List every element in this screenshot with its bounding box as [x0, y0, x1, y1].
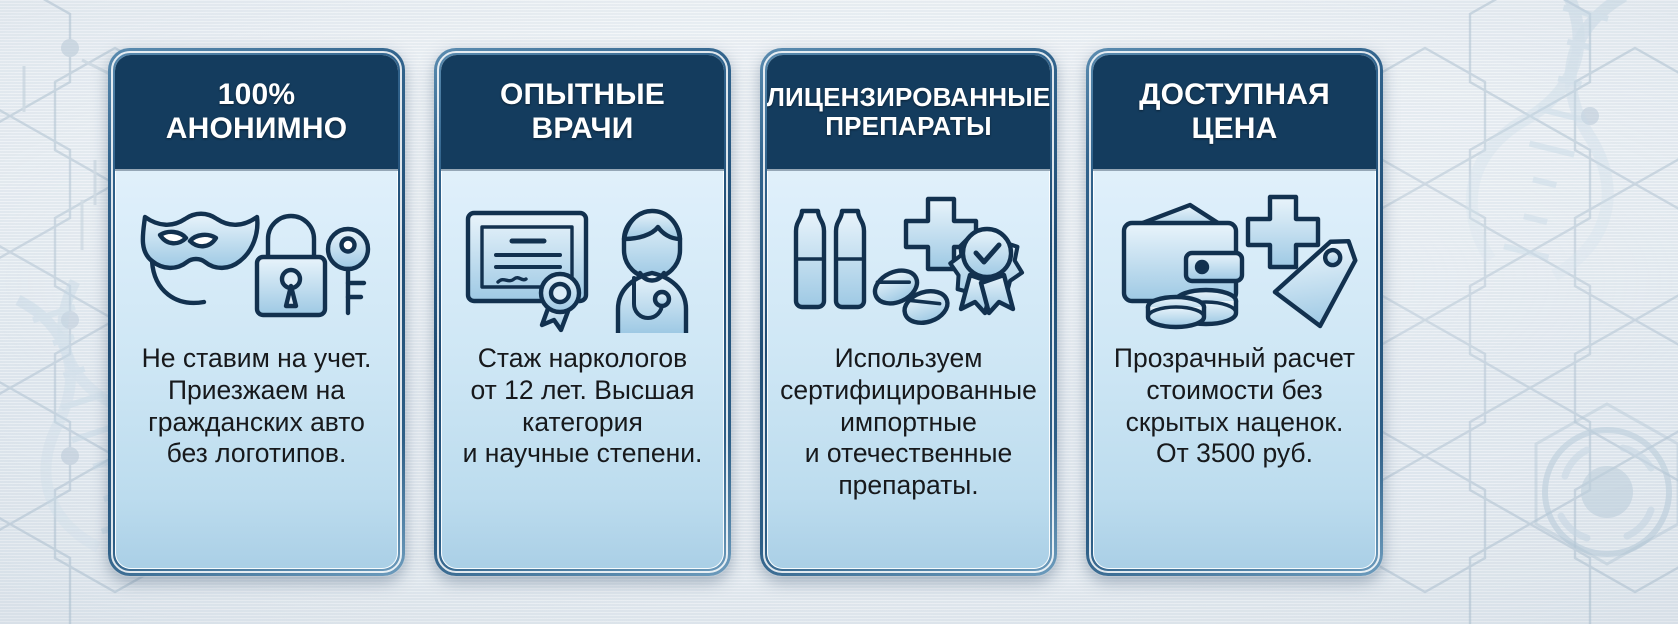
- padlock-icon: [257, 216, 325, 315]
- card-title: ДОСТУПНАЯ ЦЕНА: [1139, 78, 1330, 145]
- wallet-icon: [1124, 205, 1242, 301]
- feature-card-anonymity[interactable]: 100% АНОНИМНО: [108, 48, 405, 576]
- medical-cross-icon: [1248, 197, 1318, 267]
- card-body: Стаж наркологов от 12 лет. Высшая катего…: [441, 339, 724, 569]
- card-icon-group: [1093, 171, 1376, 339]
- card-title: ЛИЦЕНЗИРОВАННЫЕ ПРЕПАРАТЫ: [767, 83, 1050, 141]
- feature-card-licensed-drugs[interactable]: ЛИЦЕНЗИРОВАННЫЕ ПРЕПАРАТЫ: [760, 48, 1057, 576]
- card-body: Используем сертифицированные импортные и…: [767, 339, 1050, 569]
- card-body: Не ставим на учет. Приезжаем на гражданс…: [115, 339, 398, 569]
- card-header: ОПЫТНЫЕ ВРАЧИ: [441, 55, 724, 171]
- card-icon-group: [441, 171, 724, 339]
- doctor-icon: [618, 211, 686, 333]
- feature-card-affordable-price[interactable]: ДОСТУПНАЯ ЦЕНА: [1086, 48, 1383, 576]
- key-icon: [328, 229, 368, 313]
- card-icon-group: [115, 171, 398, 339]
- card-header: 100% АНОНИМНО: [115, 55, 398, 171]
- promo-banner: 100% АНОНИМНО: [0, 0, 1678, 624]
- card-description: Стаж наркологов от 12 лет. Высшая катего…: [463, 343, 703, 470]
- card-header: ДОСТУПНАЯ ЦЕНА: [1093, 55, 1376, 171]
- card-title: ОПЫТНЫЕ ВРАЧИ: [500, 78, 665, 145]
- card-icon-group: [767, 171, 1050, 339]
- card-title: 100% АНОНИМНО: [166, 78, 347, 145]
- mask-icon: [142, 214, 257, 303]
- card-description: Прозрачный расчет стоимости без скрытых …: [1114, 343, 1355, 470]
- ampoule-icon: [796, 211, 864, 307]
- feature-card-list: 100% АНОНИМНО: [0, 0, 1678, 624]
- card-body: Прозрачный расчет стоимости без скрытых …: [1093, 339, 1376, 569]
- card-description: Не ставим на учет. Приезжаем на гражданс…: [142, 343, 372, 470]
- pills-icon: [869, 264, 951, 328]
- card-description: Используем сертифицированные импортные и…: [780, 343, 1037, 502]
- card-header: ЛИЦЕНЗИРОВАННЫЕ ПРЕПАРАТЫ: [767, 55, 1050, 171]
- feature-card-experienced-doctors[interactable]: ОПЫТНЫЕ ВРАЧИ: [434, 48, 731, 576]
- certificate-icon: [468, 213, 586, 330]
